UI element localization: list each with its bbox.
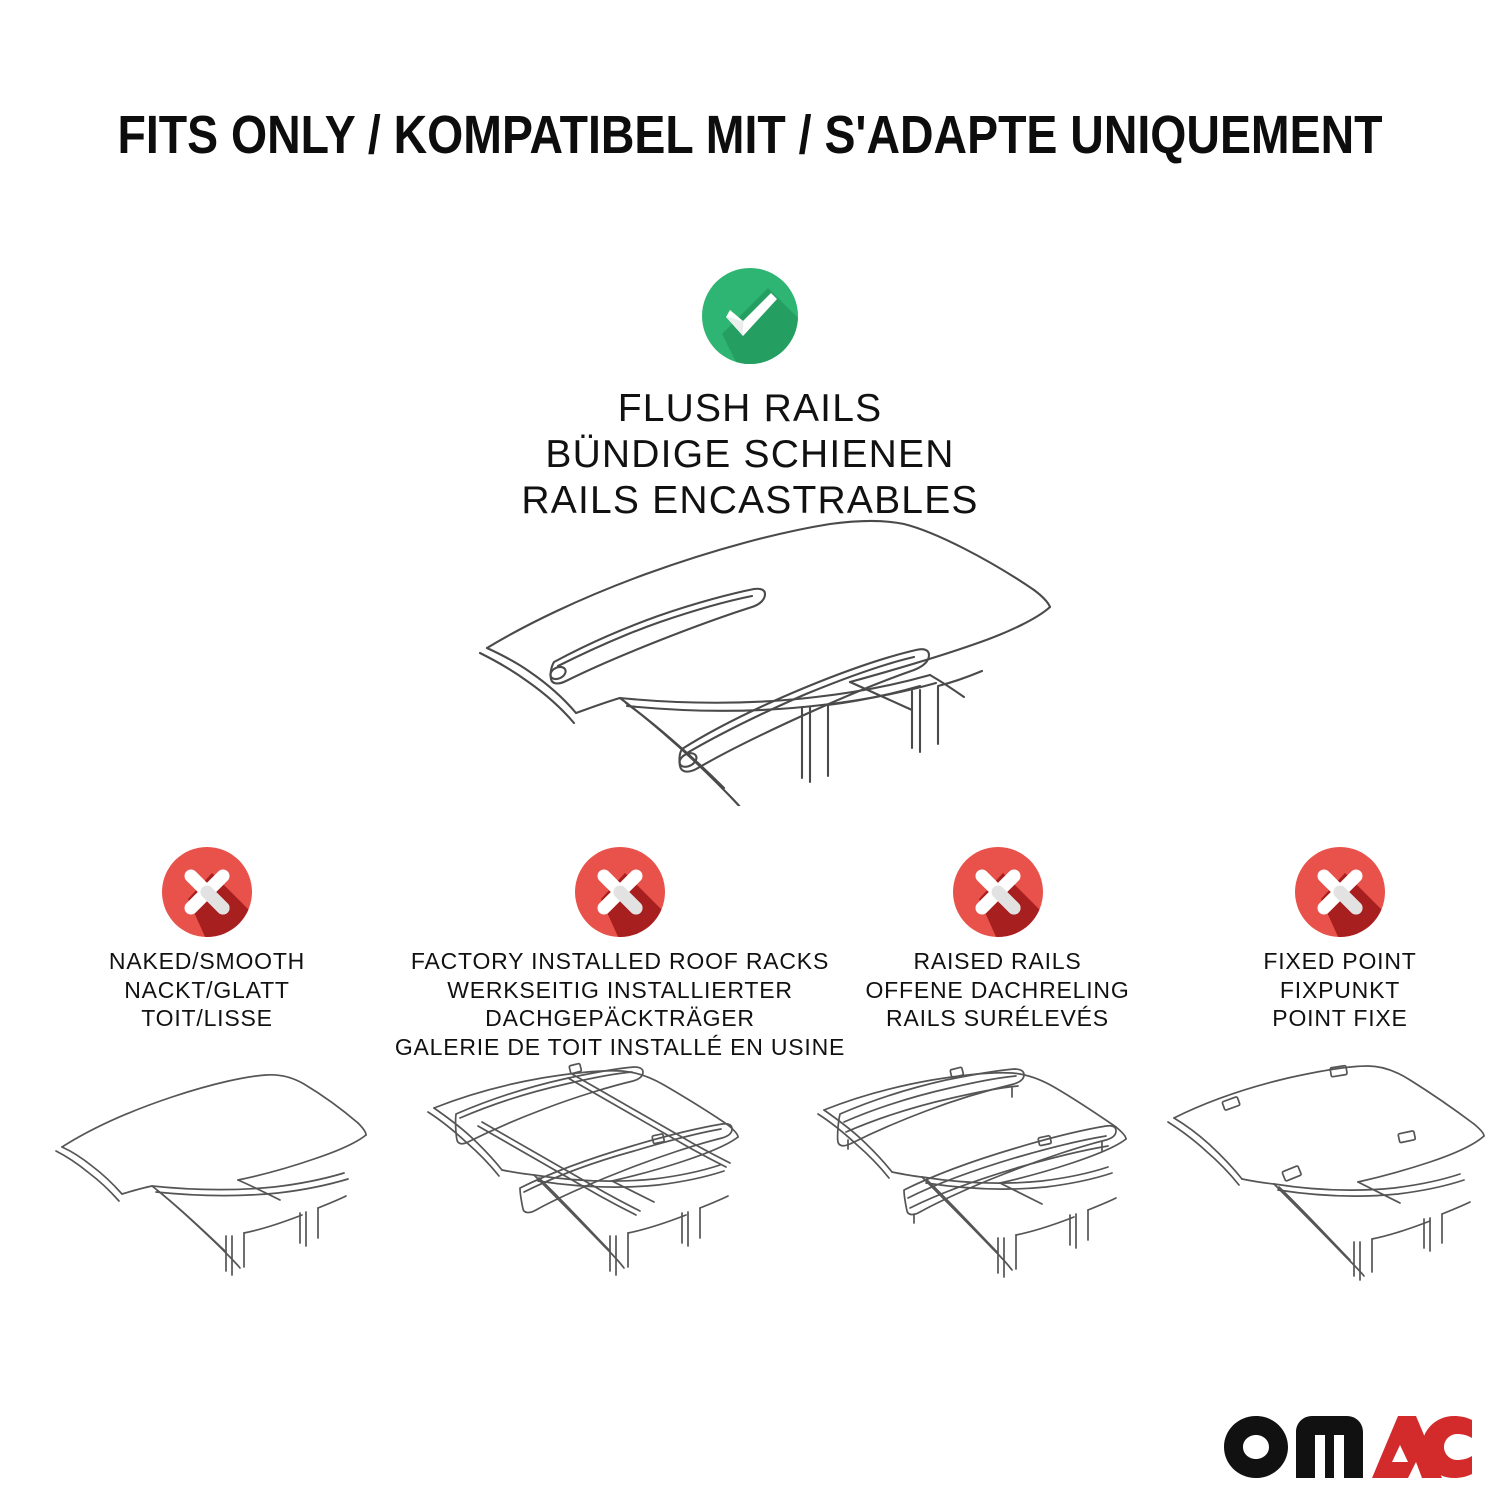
label-line-2: WERKSEITIG INSTALLIERTER — [390, 976, 850, 1005]
logo-letter-m — [1296, 1416, 1363, 1478]
incompatible-row: NAKED/SMOOTH NACKT/GLATT TOIT/LISSE FACT… — [0, 845, 1500, 1075]
label-line-1: RAISED RAILS — [835, 947, 1160, 976]
compatible-label-de: BÜNDIGE SCHIENEN — [250, 432, 1250, 478]
label-line-2: FIXPUNKT — [1185, 976, 1495, 1005]
car-roof-raised-rails-illustration — [800, 1052, 1155, 1287]
label-line-3: DACHGEPÄCKTRÄGER — [390, 1004, 850, 1033]
incompatible-item-fixed-point: FIXED POINT FIXPUNKT POINT FIXE — [1185, 845, 1495, 1033]
label-line-1: NAKED/SMOOTH — [57, 947, 357, 976]
car-roof-flush-rails-illustration — [430, 486, 1070, 806]
label-line-3: TOIT/LISSE — [57, 1004, 357, 1033]
label-line-3: RAILS SURÉLEVÉS — [835, 1004, 1160, 1033]
label-line-2: NACKT/GLATT — [57, 976, 357, 1005]
page-title: FITS ONLY / KOMPATIBEL MIT / S'ADAPTE UN… — [105, 104, 1395, 166]
incompatible-item-factory-roof-racks: FACTORY INSTALLED ROOF RACKS WERKSEITIG … — [390, 845, 850, 1061]
label-line-1: FACTORY INSTALLED ROOF RACKS — [390, 947, 850, 976]
red-x-icon — [951, 845, 1045, 939]
omac-logo — [1222, 1412, 1472, 1482]
label-line-1: FIXED POINT — [1185, 947, 1495, 976]
car-roof-fixed-points-illustration — [1160, 1052, 1500, 1287]
label-line-2: OFFENE DACHRELING — [835, 976, 1160, 1005]
red-x-icon — [1293, 845, 1387, 939]
car-roof-bare-illustration — [52, 1055, 382, 1285]
label-line-3: POINT FIXE — [1185, 1004, 1495, 1033]
compatible-label-en: FLUSH RAILS — [250, 386, 1250, 432]
car-roof-factory-crossbars-illustration — [420, 1052, 775, 1287]
fitment-infographic: FITS ONLY / KOMPATIBEL MIT / S'ADAPTE UN… — [0, 0, 1500, 1500]
incompatible-item-naked-smooth: NAKED/SMOOTH NACKT/GLATT TOIT/LISSE — [57, 845, 357, 1033]
green-check-icon — [696, 262, 804, 370]
compatible-block: FLUSH RAILS BÜNDIGE SCHIENEN RAILS ENCAS… — [250, 262, 1250, 524]
red-x-icon — [160, 845, 254, 939]
logo-letter-o — [1224, 1416, 1288, 1478]
red-x-icon — [573, 845, 667, 939]
incompatible-item-raised-rails: RAISED RAILS OFFENE DACHRELING RAILS SUR… — [835, 845, 1160, 1033]
